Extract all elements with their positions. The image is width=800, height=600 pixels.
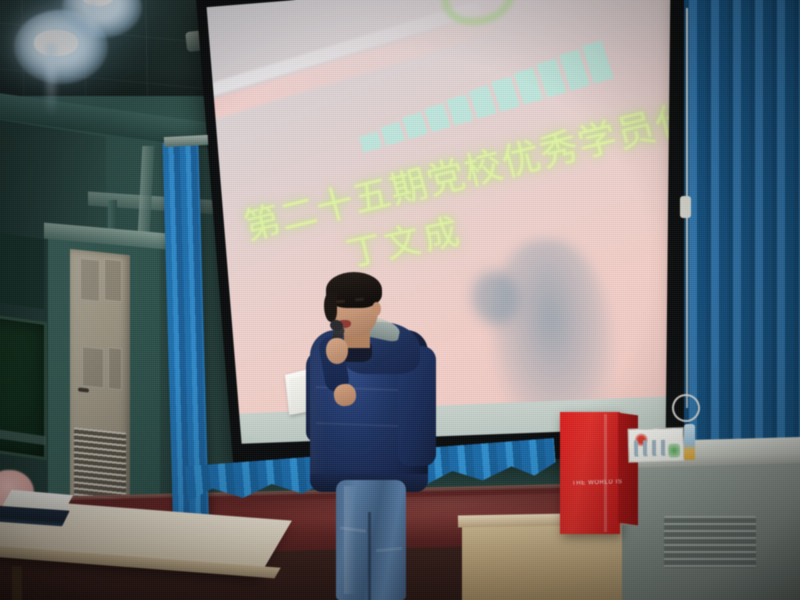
hair-sideburn <box>324 292 337 322</box>
jeans-inseam <box>368 512 371 600</box>
table-leg <box>12 566 22 600</box>
right-eye <box>355 298 364 302</box>
photo-scene: 第二十五期党校优秀学员代表发言 丁文成 <box>0 0 800 600</box>
jeans-highlight <box>344 486 356 594</box>
ear <box>372 302 381 316</box>
curtain-right <box>684 0 800 464</box>
door-panel-mid-right <box>108 347 122 390</box>
gift-bag-crease <box>604 414 607 532</box>
left-eye <box>336 300 345 304</box>
hand-holding-microphone <box>326 338 348 364</box>
door-panel-top-left <box>80 258 100 302</box>
red-gift-bag[interactable] <box>560 412 620 534</box>
upper-board-panel <box>0 233 44 309</box>
cabinet-vent-louvers <box>664 516 756 568</box>
beverage-bottle[interactable] <box>684 424 695 460</box>
curtain-folds <box>684 0 800 464</box>
light-ray-right <box>88 2 96 48</box>
ceiling-light-left <box>34 30 78 56</box>
box-green-badge-icon <box>668 443 680 457</box>
door-panel-mid <box>82 346 104 388</box>
box-bar-graphic <box>634 440 670 457</box>
door-panel-top-right <box>104 258 122 302</box>
light-ray-left <box>46 44 56 116</box>
curtain-cord-grip[interactable] <box>680 196 691 218</box>
product-box[interactable] <box>628 427 685 462</box>
